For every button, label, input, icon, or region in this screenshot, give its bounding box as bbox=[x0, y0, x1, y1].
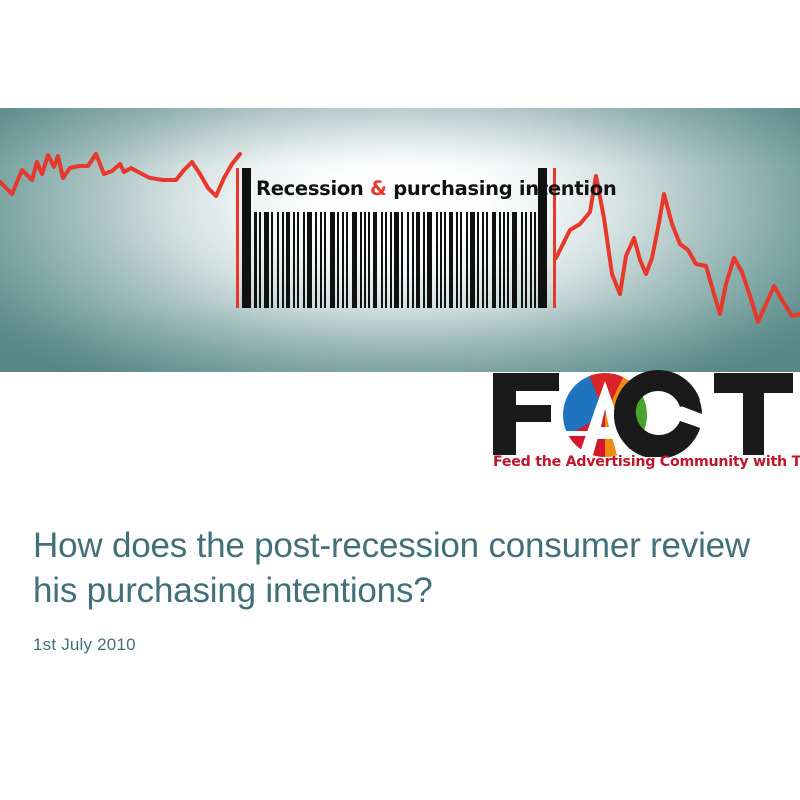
barcode-caption-suffix: purchasing intention bbox=[387, 177, 617, 200]
barcode-bar bbox=[381, 212, 383, 308]
fact-tagline: Feed the Advertising Community with Tren… bbox=[493, 454, 794, 470]
barcode-bar bbox=[373, 212, 377, 308]
slide-canvas: Recession & purchasing intention bbox=[0, 0, 800, 800]
barcode-bar bbox=[254, 212, 257, 308]
barcode-bar bbox=[330, 212, 335, 308]
barcode-bar bbox=[444, 212, 446, 308]
barcode-bar bbox=[346, 212, 348, 308]
barcode-bar bbox=[264, 212, 269, 308]
barcode-bar bbox=[470, 212, 475, 308]
title-block: How does the post-recession consumer rev… bbox=[33, 523, 763, 655]
barcode-bar bbox=[259, 212, 261, 308]
barcode-bar bbox=[271, 212, 273, 308]
barcode-bar bbox=[352, 212, 357, 308]
page-title: How does the post-recession consumer rev… bbox=[33, 523, 763, 613]
barcode-bar bbox=[303, 212, 305, 308]
barcode-bar bbox=[416, 212, 420, 308]
barcode-bar bbox=[320, 212, 322, 308]
barcode-bar bbox=[282, 212, 284, 308]
slide-date: 1st July 2010 bbox=[33, 635, 763, 655]
fact-logo: Feed the Advertising Community with Tren… bbox=[489, 369, 794, 481]
barcode-bar bbox=[297, 212, 299, 308]
barcode-bar bbox=[307, 212, 312, 308]
barcode-bar bbox=[385, 212, 387, 308]
barcode-bar bbox=[412, 212, 414, 308]
barcode-bar bbox=[525, 212, 527, 308]
barcode-bar bbox=[394, 212, 399, 308]
barcode-bar bbox=[440, 212, 442, 308]
barcode-bar bbox=[293, 212, 295, 308]
barcode-bar bbox=[277, 212, 279, 308]
barcode-bar bbox=[492, 212, 496, 308]
barcode-bar bbox=[499, 212, 501, 308]
barcode-bar bbox=[342, 212, 344, 308]
barcode-bar bbox=[482, 212, 484, 308]
logo-letter-f bbox=[493, 373, 559, 455]
barcode-bars bbox=[254, 212, 536, 308]
barcode-bar bbox=[423, 212, 425, 308]
barcode-bar bbox=[401, 212, 403, 308]
barcode-bar bbox=[407, 212, 409, 308]
barcode-bar bbox=[324, 212, 326, 308]
logo-letter-t bbox=[714, 373, 793, 455]
barcode-bar bbox=[507, 212, 509, 308]
logo-letter-c bbox=[614, 370, 702, 457]
barcode-bar bbox=[368, 212, 370, 308]
barcode-bar bbox=[436, 212, 438, 308]
chart-line-left bbox=[0, 154, 240, 196]
barcode-bar bbox=[530, 212, 532, 308]
barcode-caption: Recession & purchasing intention bbox=[256, 169, 536, 209]
barcode-bar bbox=[534, 212, 536, 308]
barcode-bar bbox=[360, 212, 362, 308]
barcode-bar bbox=[315, 212, 317, 308]
barcode-bar bbox=[390, 212, 392, 308]
barcode-guard-bar-left bbox=[242, 168, 251, 308]
barcode-bar bbox=[427, 212, 432, 308]
recession-banner: Recession & purchasing intention bbox=[0, 108, 800, 372]
barcode-caption-ampersand: & bbox=[370, 177, 387, 200]
barcode-bar bbox=[477, 212, 479, 308]
barcode-bar bbox=[466, 212, 468, 308]
barcode-bar bbox=[512, 212, 517, 308]
barcode-bar bbox=[286, 212, 290, 308]
barcode-bar bbox=[503, 212, 505, 308]
barcode-bar bbox=[521, 212, 523, 308]
barcode-caption-prefix: Recession bbox=[256, 177, 370, 200]
fact-wordmark bbox=[489, 369, 794, 457]
barcode-red-rule-left bbox=[236, 168, 239, 308]
barcode-bar bbox=[456, 212, 458, 308]
barcode-bar bbox=[460, 212, 462, 308]
barcode-bar bbox=[486, 212, 488, 308]
barcode-bar bbox=[449, 212, 453, 308]
barcode-graphic: Recession & purchasing intention bbox=[236, 168, 556, 308]
barcode-bar bbox=[337, 212, 339, 308]
barcode-bar bbox=[364, 212, 366, 308]
